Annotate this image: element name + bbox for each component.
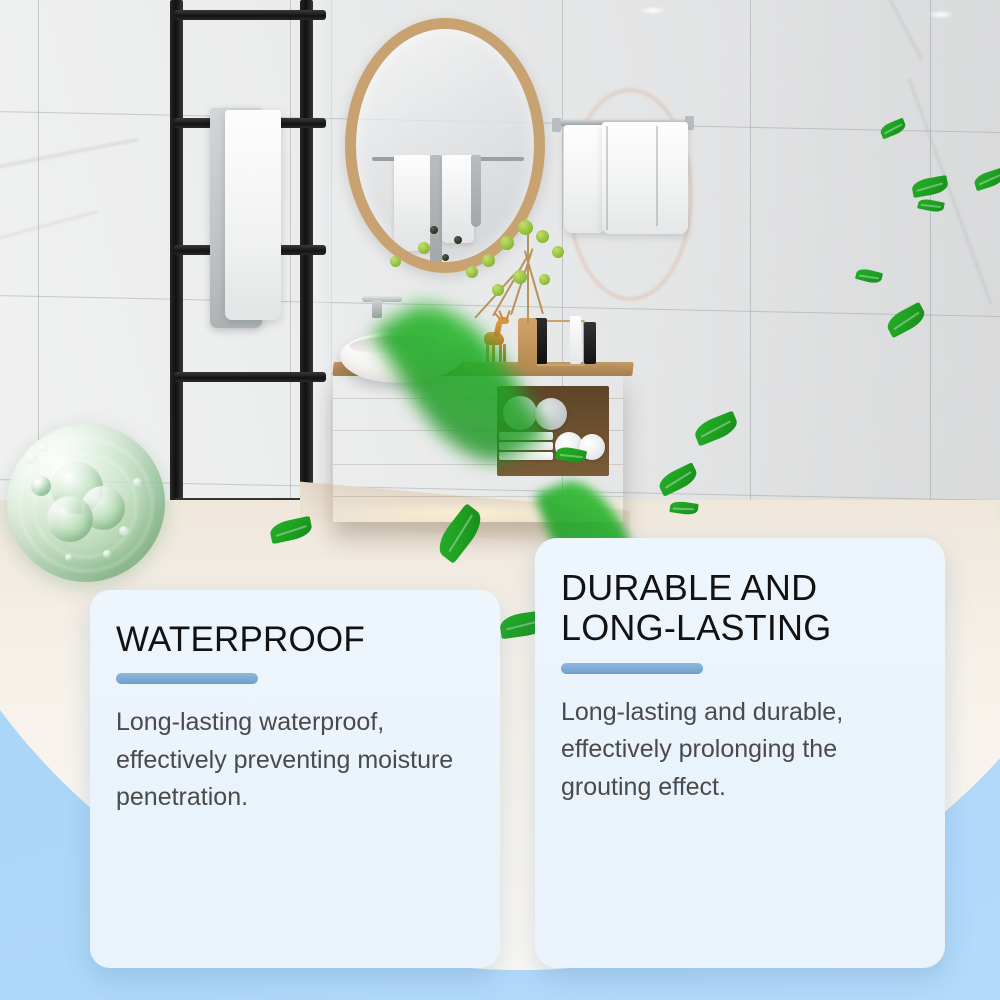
white-hanging-towel bbox=[225, 110, 281, 320]
green-berry bbox=[482, 254, 495, 267]
green-berry bbox=[536, 230, 549, 243]
ceiling-spotlight bbox=[640, 6, 666, 15]
ladder-rail bbox=[300, 0, 313, 560]
card-title: WATERPROOF bbox=[116, 620, 476, 659]
berry-branch bbox=[527, 230, 529, 325]
ladder-rung bbox=[174, 10, 326, 20]
green-berry bbox=[500, 236, 514, 250]
ladder-rail bbox=[170, 0, 183, 560]
dark-berry bbox=[430, 226, 438, 234]
mirror-reflected-towel bbox=[394, 155, 430, 251]
feature-banner: WATERPROOF Long-lasting waterproof, effe… bbox=[0, 0, 1000, 1000]
mirror-reflected-towel-dark bbox=[471, 155, 481, 227]
towel-fold-line bbox=[606, 126, 608, 230]
feature-card-durable[interactable]: DURABLE AND LONG-LASTING Long-lasting an… bbox=[535, 538, 945, 968]
deer-leg bbox=[503, 344, 506, 362]
card-body: Long-lasting waterproof, effectively pre… bbox=[116, 704, 476, 817]
green-berry bbox=[539, 274, 550, 285]
wooden-vase bbox=[518, 318, 537, 370]
mirror-reflected-towel-dark bbox=[430, 155, 442, 267]
green-berry bbox=[466, 266, 478, 278]
card-title: DURABLE AND LONG-LASTING bbox=[561, 568, 921, 649]
white-bottle bbox=[570, 316, 581, 364]
dark-berry bbox=[442, 254, 449, 261]
round-wooden-framed-mirror bbox=[345, 18, 545, 273]
ladder-rung bbox=[174, 372, 326, 382]
gel-swirl bbox=[33, 454, 137, 558]
accent-bar bbox=[116, 673, 258, 684]
black-bottle bbox=[584, 322, 596, 364]
dark-berry bbox=[454, 236, 462, 244]
green-berry bbox=[552, 246, 564, 258]
card-body: Long-lasting and durable, effectively pr… bbox=[561, 694, 921, 807]
faucet-spout bbox=[372, 300, 382, 318]
green-berry bbox=[513, 270, 527, 284]
green-gel-bubble bbox=[7, 424, 165, 582]
feature-card-waterproof[interactable]: WATERPROOF Long-lasting waterproof, effe… bbox=[90, 590, 500, 968]
mirror-reflected-towel bbox=[442, 155, 474, 243]
green-berry bbox=[492, 284, 504, 296]
green-berry bbox=[390, 256, 401, 267]
wall-mounted-faucet bbox=[362, 296, 402, 302]
towel-bar-bracket bbox=[552, 118, 561, 132]
white-hanging-towel bbox=[564, 125, 606, 233]
white-hanging-towel bbox=[602, 122, 688, 234]
accent-bar bbox=[561, 663, 703, 674]
ceiling-spotlight bbox=[928, 10, 954, 19]
green-berry bbox=[518, 220, 533, 235]
green-berry bbox=[418, 242, 430, 254]
towel-fold-line bbox=[656, 126, 658, 226]
